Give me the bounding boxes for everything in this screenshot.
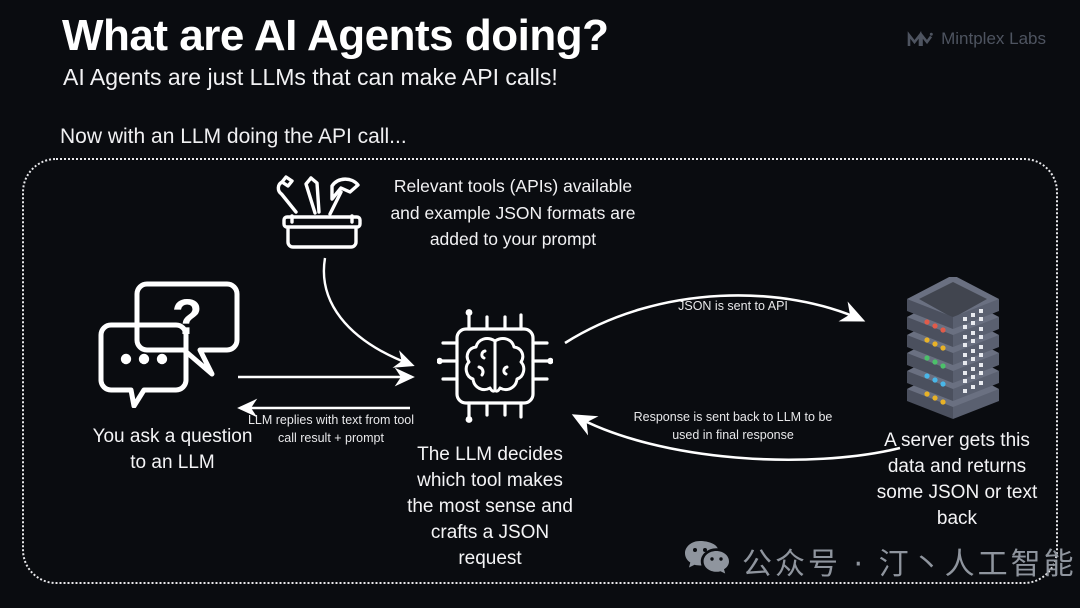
- wechat-icon: [684, 538, 730, 583]
- watermark: 公众号 · 汀丶人工智能: [684, 538, 1077, 583]
- page-title: What are AI Agents doing?: [62, 12, 608, 60]
- edge-label-server-to-llm: Response is sent back to LLM to be used …: [620, 408, 846, 444]
- mintplex-logo-icon: [907, 29, 933, 49]
- speech-bubbles-icon: ?: [98, 278, 240, 413]
- svg-text:?: ?: [172, 289, 203, 345]
- caption-server: A server gets this data and returns some…: [868, 428, 1046, 532]
- cpu-brain-icon: [437, 307, 553, 430]
- brand-label: Mintplex Labs: [941, 29, 1046, 49]
- slide-canvas: What are AI Agents doing? AI Agents are …: [0, 0, 1080, 608]
- watermark-text: 公众号 · 汀丶人工智能: [742, 539, 1077, 583]
- edge-label-llm-to-user: LLM replies with text from tool call res…: [240, 411, 422, 447]
- caption-user: You ask a question to an LLM: [90, 424, 255, 476]
- tools-note: Relevant tools (APIs) available and exam…: [382, 173, 644, 253]
- server-rack-icon: [897, 277, 1009, 424]
- section-heading: Now with an LLM doing the API call...: [60, 125, 407, 149]
- page-subtitle: AI Agents are just LLMs that can make AP…: [63, 64, 558, 91]
- caption-llm: The LLM decides which tool makes the mos…: [402, 442, 578, 572]
- toolbox-icon: [270, 172, 374, 255]
- brand-logo: Mintplex Labs: [907, 29, 1046, 49]
- edge-label-llm-to-server: JSON is sent to API: [620, 297, 846, 315]
